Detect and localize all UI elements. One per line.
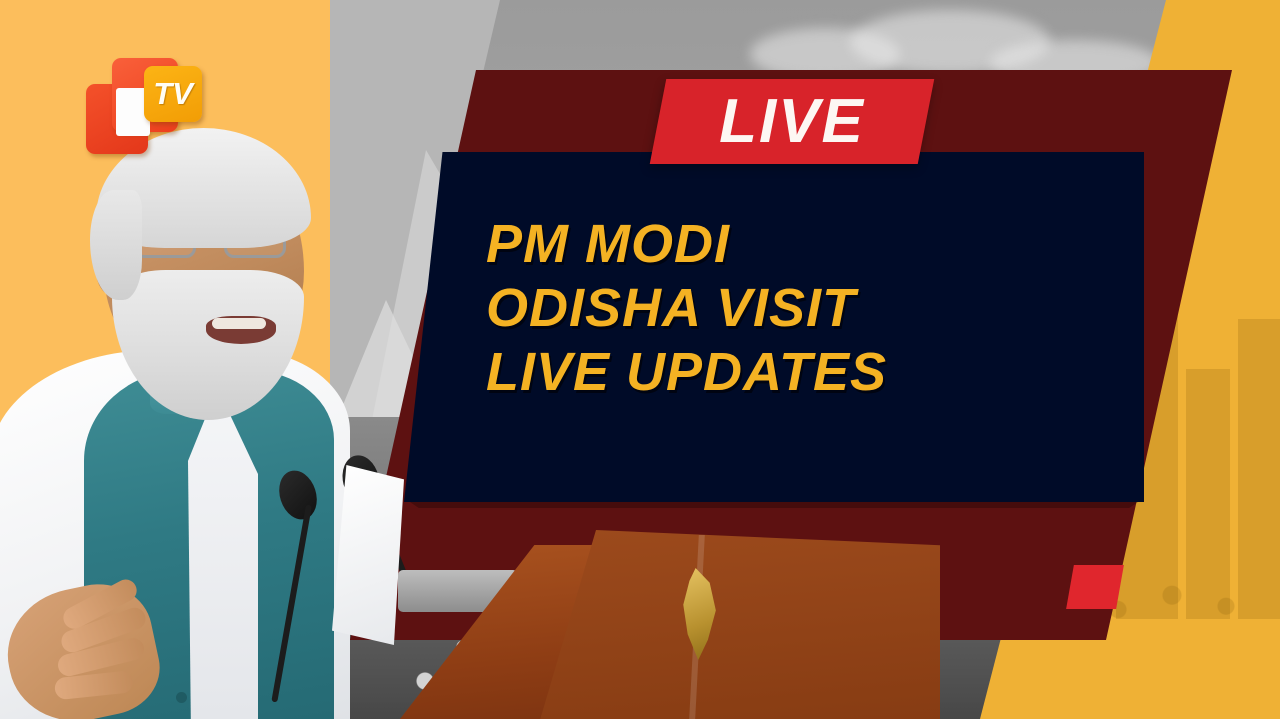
headline-text-block: PM MODI ODISHA VISIT LIVE UPDATES (486, 212, 1106, 404)
mouth (206, 316, 276, 344)
live-badge: LIVE (650, 79, 935, 164)
logo-tv-label: TV (144, 66, 202, 122)
red-accent-tab (1066, 565, 1124, 609)
headline-line-1: PM MODI (486, 212, 1106, 276)
otv-logo[interactable]: TV (82, 48, 207, 158)
podium-top (540, 530, 940, 719)
news-graphic-stage: PM MODI ODISHA VISIT LIVE UPDATES LIVE T… (0, 0, 1280, 719)
headline-line-3: LIVE UPDATES (486, 340, 1106, 404)
headline-line-2: ODISHA VISIT (486, 276, 1106, 340)
headline-panel: PM MODI ODISHA VISIT LIVE UPDATES (404, 152, 1144, 502)
vest-button (176, 692, 187, 703)
live-badge-label: LIVE (658, 79, 926, 164)
